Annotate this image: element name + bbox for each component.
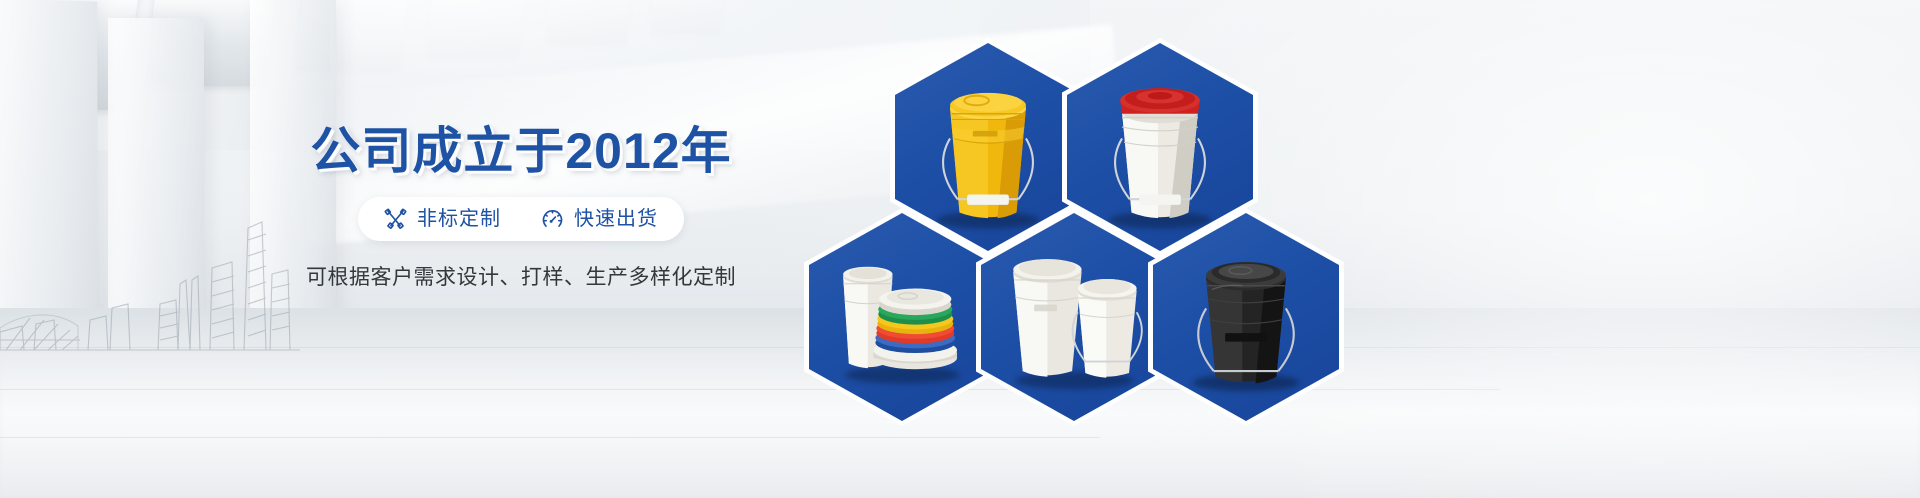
banner-headline: 公司成立于2012年	[286, 126, 756, 176]
feature-item-label: 快速出货	[574, 209, 658, 229]
city-skyline-illustration	[0, 200, 300, 380]
banner-text-block: 公司成立于2012年 非标定制	[286, 126, 756, 291]
feature-item-fast-shipping[interactable]: 快速出货	[541, 208, 658, 231]
product-hexagon-group	[800, 0, 1420, 498]
feature-item-label: 非标定制	[417, 209, 501, 229]
promo-banner: 公司成立于2012年 非标定制	[0, 0, 1920, 498]
scissors-cut-icon	[384, 208, 407, 231]
banner-subline: 可根据客户需求设计、打样、生产多样化定制	[286, 261, 756, 291]
feature-item-custom[interactable]: 非标定制	[384, 208, 501, 231]
feature-pill: 非标定制 快速出货	[358, 197, 684, 241]
speedometer-icon	[541, 208, 564, 231]
